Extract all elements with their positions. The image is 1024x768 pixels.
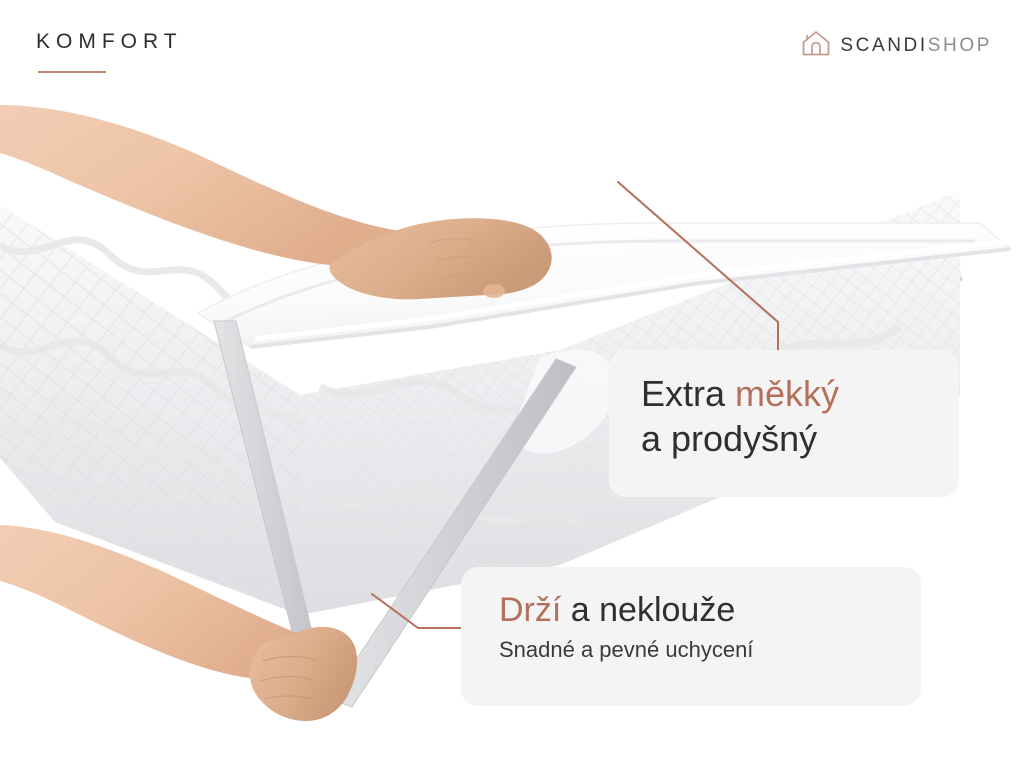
- page-title: KOMFORT: [36, 30, 183, 54]
- product-infographic: KOMFORT SCANDISHOP: [0, 0, 1024, 768]
- house-outline-icon: [801, 29, 831, 62]
- brand-logo: SCANDISHOP: [801, 29, 992, 62]
- callout-grip-line1-plain: a neklouže: [561, 591, 735, 629]
- title-underline-rule: [38, 71, 106, 73]
- callout-card-soft: Extra měkký a prodyšný: [609, 350, 959, 497]
- brand-name-primary: SCANDI: [840, 35, 927, 56]
- callout-card-grip: Drží a neklouže Snadné a pevné uchycení: [461, 567, 921, 706]
- callout-soft-line2: a prodyšný: [641, 417, 931, 462]
- brand-wordmark: SCANDISHOP: [840, 35, 992, 57]
- callout-soft-line1: Extra měkký: [641, 372, 931, 417]
- brand-name-secondary: SHOP: [928, 35, 992, 56]
- callout-grip-subtitle: Snadné a pevné uchycení: [499, 637, 893, 663]
- callout-grip-line1: Drží a neklouže: [499, 589, 893, 631]
- callout-soft-line1-plain: Extra: [641, 373, 735, 414]
- callout-grip-line1-accent: Drží: [499, 591, 561, 629]
- callout-soft-line1-accent: měkký: [735, 373, 839, 414]
